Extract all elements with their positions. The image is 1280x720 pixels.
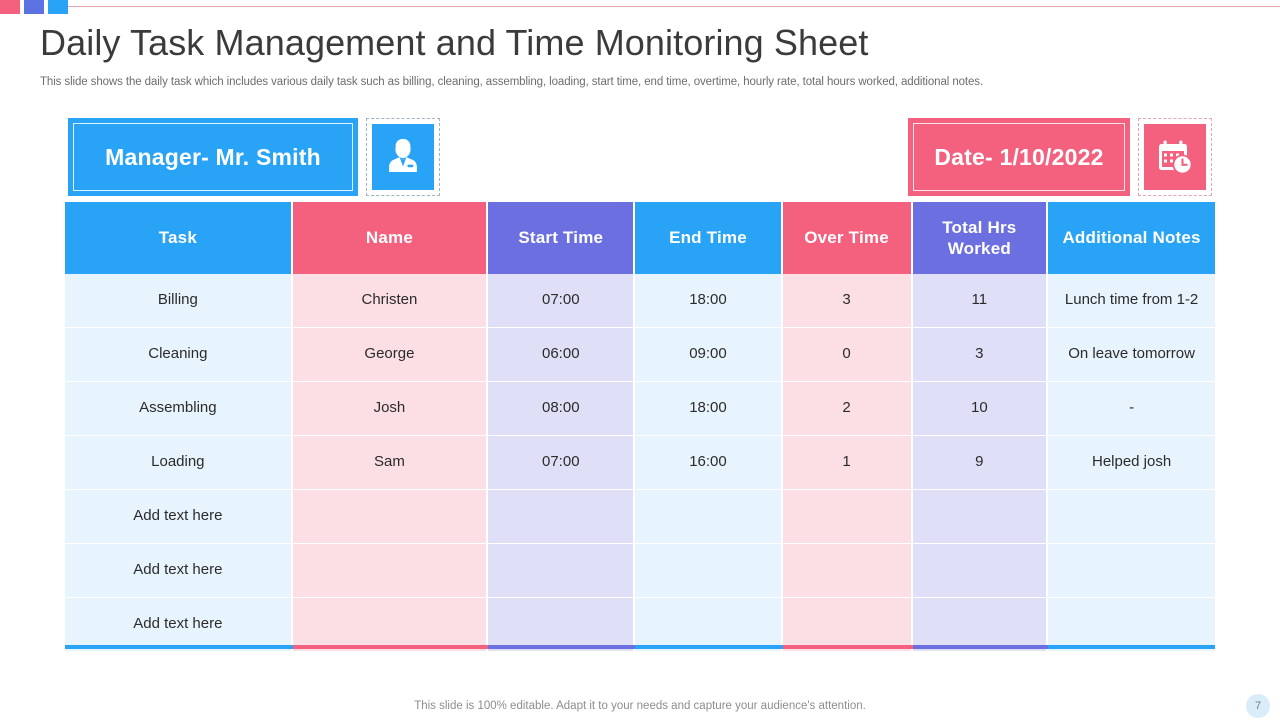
column-header-start-time[interactable]: Start Time: [488, 202, 635, 274]
column-header-name[interactable]: Name: [293, 202, 489, 274]
cell-total-hrs-worked[interactable]: 11: [913, 274, 1049, 328]
cell-task[interactable]: Billing: [65, 274, 293, 328]
accent-task: [65, 645, 293, 649]
calendar-clock-icon: [1144, 124, 1206, 190]
table-row: Assembling Josh 08:00 18:00 2 10 -: [65, 382, 1215, 436]
cell-task[interactable]: Loading: [65, 436, 293, 490]
cell-end-time[interactable]: [635, 544, 782, 598]
manager-banner-inner-frame: Manager- Mr. Smith: [73, 123, 353, 191]
deco-square-indigo: [24, 0, 44, 14]
cell-task[interactable]: Add text here: [65, 490, 293, 544]
cell-task[interactable]: Assembling: [65, 382, 293, 436]
daily-task-table: Task Name Start Time End Time Over Time …: [65, 202, 1215, 652]
column-header-task[interactable]: Task: [65, 202, 293, 274]
accent-total-hrs-worked: [913, 645, 1049, 649]
manager-icon-frame: [366, 118, 440, 196]
cell-over-time[interactable]: 2: [783, 382, 913, 436]
table-row: Add text here: [65, 544, 1215, 598]
cell-over-time[interactable]: [783, 490, 913, 544]
date-icon-frame: [1138, 118, 1212, 196]
cell-total-hrs-worked[interactable]: 10: [913, 382, 1049, 436]
deco-horizontal-rule: [68, 6, 1280, 7]
cell-task[interactable]: Add text here: [65, 544, 293, 598]
cell-start-time[interactable]: [488, 544, 635, 598]
cell-start-time[interactable]: 07:00: [488, 436, 635, 490]
top-decoration-bar: [0, 0, 1280, 14]
cell-name[interactable]: [293, 598, 489, 652]
date-label: Date- 1/10/2022: [934, 144, 1103, 171]
cell-name[interactable]: [293, 544, 489, 598]
cell-end-time[interactable]: 09:00: [635, 328, 782, 382]
accent-additional-notes: [1048, 645, 1215, 649]
cell-over-time[interactable]: 1: [783, 436, 913, 490]
cell-over-time[interactable]: 0: [783, 328, 913, 382]
cell-end-time[interactable]: [635, 490, 782, 544]
cell-end-time[interactable]: 16:00: [635, 436, 782, 490]
cell-additional-notes[interactable]: Helped josh: [1048, 436, 1215, 490]
cell-start-time[interactable]: 06:00: [488, 328, 635, 382]
page-number-badge: 7: [1246, 694, 1270, 718]
cell-additional-notes[interactable]: [1048, 544, 1215, 598]
cell-total-hrs-worked[interactable]: 3: [913, 328, 1049, 382]
cell-over-time[interactable]: [783, 544, 913, 598]
page-title: Daily Task Management and Time Monitorin…: [40, 22, 868, 64]
cell-additional-notes[interactable]: Lunch time from 1-2: [1048, 274, 1215, 328]
cell-total-hrs-worked[interactable]: [913, 544, 1049, 598]
cell-start-time[interactable]: [488, 598, 635, 652]
cell-name[interactable]: [293, 490, 489, 544]
accent-end-time: [635, 645, 782, 649]
cell-end-time[interactable]: 18:00: [635, 274, 782, 328]
column-header-over-time[interactable]: Over Time: [783, 202, 913, 274]
cell-end-time[interactable]: 18:00: [635, 382, 782, 436]
table-row: Cleaning George 06:00 09:00 0 3 On leave…: [65, 328, 1215, 382]
footer-note: This slide is 100% editable. Adapt it to…: [0, 700, 1280, 712]
manager-label: Manager- Mr. Smith: [105, 144, 321, 171]
manager-banner: Manager- Mr. Smith: [68, 118, 358, 196]
cell-additional-notes[interactable]: -: [1048, 382, 1215, 436]
cell-start-time[interactable]: [488, 490, 635, 544]
column-header-end-time[interactable]: End Time: [635, 202, 782, 274]
cell-task[interactable]: Add text here: [65, 598, 293, 652]
table-body: Billing Christen 07:00 18:00 3 11 Lunch …: [65, 274, 1215, 652]
deco-square-pink: [0, 0, 20, 14]
cell-total-hrs-worked[interactable]: 9: [913, 436, 1049, 490]
table-header-row: Task Name Start Time End Time Over Time …: [65, 202, 1215, 274]
info-banner-row: Manager- Mr. Smith Date- 1/10/2022: [0, 118, 1280, 200]
cell-additional-notes[interactable]: [1048, 598, 1215, 652]
table-bottom-accent-strip: [65, 645, 1215, 649]
businessman-icon: [372, 124, 434, 190]
column-header-additional-notes[interactable]: Additional Notes: [1048, 202, 1215, 274]
table-row: Add text here: [65, 598, 1215, 652]
cell-additional-notes[interactable]: On leave tomorrow: [1048, 328, 1215, 382]
cell-name[interactable]: Josh: [293, 382, 489, 436]
cell-start-time[interactable]: 07:00: [488, 274, 635, 328]
cell-start-time[interactable]: 08:00: [488, 382, 635, 436]
cell-total-hrs-worked[interactable]: [913, 598, 1049, 652]
date-banner: Date- 1/10/2022: [908, 118, 1130, 196]
task-table-container: Task Name Start Time End Time Over Time …: [65, 202, 1215, 652]
cell-task[interactable]: Cleaning: [65, 328, 293, 382]
accent-start-time: [488, 645, 635, 649]
cell-name[interactable]: Christen: [293, 274, 489, 328]
table-row: Add text here: [65, 490, 1215, 544]
page-subtitle: This slide shows the daily task which in…: [40, 76, 983, 88]
table-row: Billing Christen 07:00 18:00 3 11 Lunch …: [65, 274, 1215, 328]
cell-additional-notes[interactable]: [1048, 490, 1215, 544]
cell-name[interactable]: George: [293, 328, 489, 382]
cell-over-time[interactable]: [783, 598, 913, 652]
cell-end-time[interactable]: [635, 598, 782, 652]
date-banner-inner-frame: Date- 1/10/2022: [913, 123, 1125, 191]
table-row: Loading Sam 07:00 16:00 1 9 Helped josh: [65, 436, 1215, 490]
accent-over-time: [783, 645, 913, 649]
deco-square-blue: [48, 0, 68, 14]
column-header-total-hrs-worked[interactable]: Total Hrs Worked: [913, 202, 1049, 274]
cell-name[interactable]: Sam: [293, 436, 489, 490]
cell-over-time[interactable]: 3: [783, 274, 913, 328]
accent-name: [293, 645, 489, 649]
cell-total-hrs-worked[interactable]: [913, 490, 1049, 544]
